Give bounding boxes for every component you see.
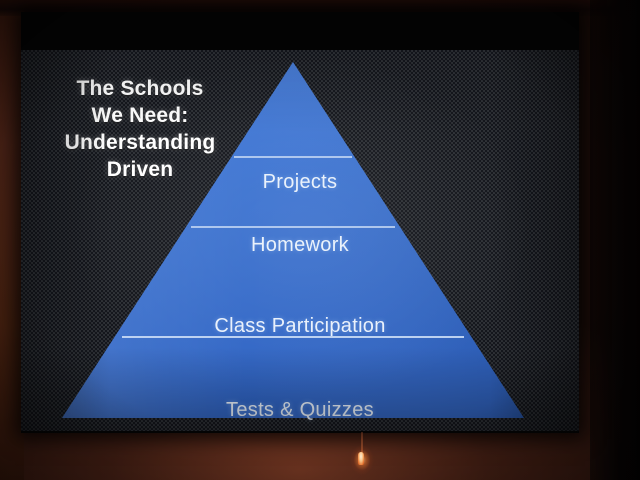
- pyramid-tier-label-homework: Homework: [21, 234, 579, 257]
- pyramid-tier-label-class-participation: Class Participation: [21, 315, 579, 338]
- projection-screen-letterbox-band: [21, 12, 579, 52]
- projection-screen-surface: The Schools We Need: Understanding Drive…: [21, 50, 579, 431]
- pyramid-tier-label-tests-quizzes: Tests & Quizzes: [21, 399, 579, 422]
- screenshot-stage: The Schools We Need: Understanding Drive…: [0, 0, 640, 480]
- wall-right-shadow: [590, 0, 640, 480]
- power-indicator-led: [358, 452, 364, 465]
- pyramid-diagram: Projects Homework Class Participation Te…: [21, 50, 579, 431]
- pyramid-tier-label-projects: Projects: [21, 171, 579, 194]
